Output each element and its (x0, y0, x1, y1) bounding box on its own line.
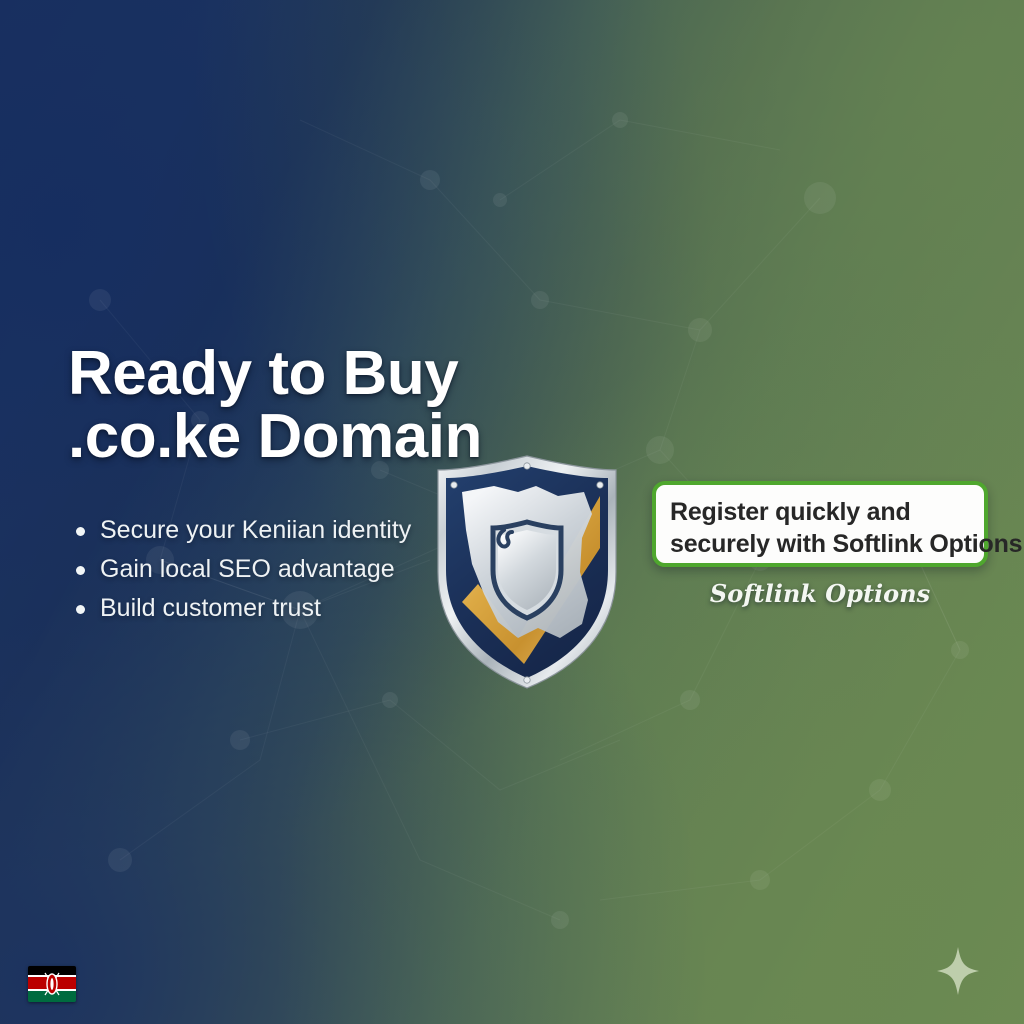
callout-text: Register quickly and securely with Softl… (670, 496, 1024, 560)
promo-poster: Ready to Buy .co.ke Domain Secure your K… (0, 0, 1024, 1024)
page-title: Ready to Buy .co.ke Domain (68, 342, 688, 468)
kenya-flag-icon (28, 966, 76, 1002)
brand-name: Softlink Options (652, 579, 988, 608)
benefit-list: Secure your Keniian identity Gain local … (70, 518, 490, 635)
callout-bubble: Register quickly and securely with Softl… (652, 481, 988, 567)
list-item: Build customer trust (70, 596, 490, 621)
headline-line-1: Ready to Buy (68, 339, 458, 408)
sparkle-icon (936, 946, 980, 996)
list-item: Secure your Keniian identity (70, 518, 490, 543)
kenya-shield-emblem (432, 452, 622, 690)
list-item: Gain local SEO advantage (70, 557, 490, 582)
